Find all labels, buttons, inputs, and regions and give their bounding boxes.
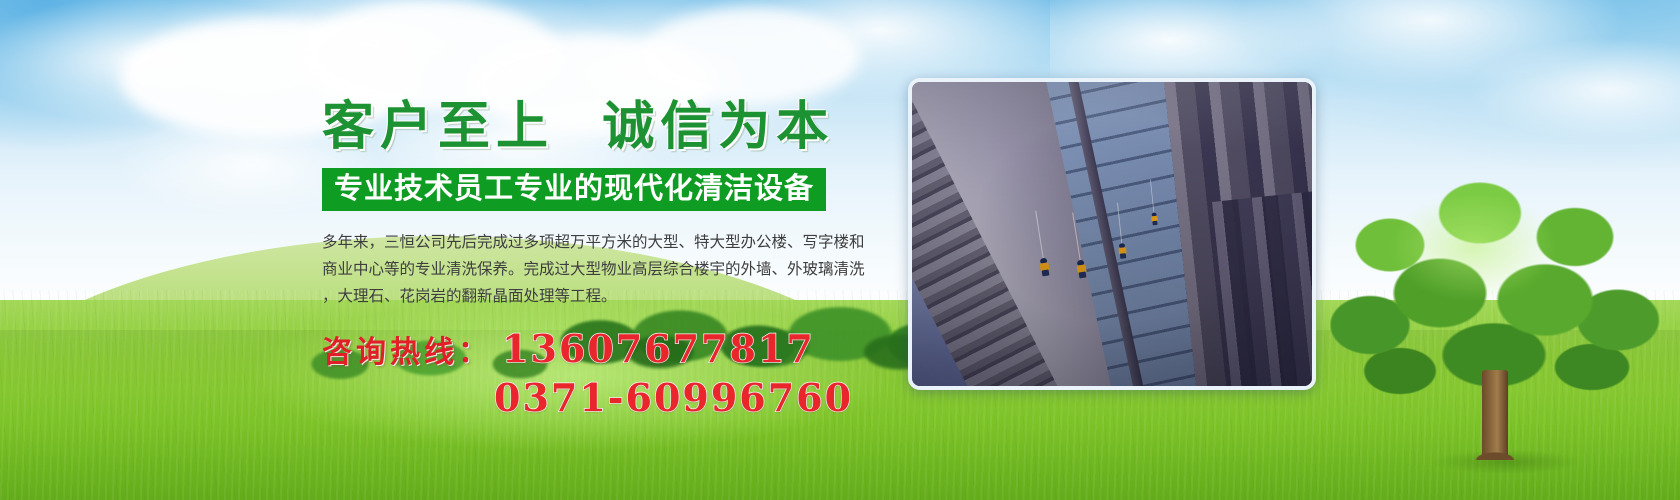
- description-line: ，大理石、花岗岩的翻新晶面处理等工程。: [322, 283, 882, 310]
- hotline-block: 咨询热线： 13607677817: [322, 326, 902, 371]
- building-photo: [912, 82, 1312, 386]
- banner-copy: 客户至上 诚信为本 专业技术员工专业的现代化清洁设备 多年来，三恒公司先后完成过…: [322, 98, 902, 420]
- description-line: 商业中心等的专业清洗保养。完成过大型物业高层综合楼宇的外墙、外玻璃清洗: [322, 256, 882, 283]
- tree-graphic: [1330, 175, 1660, 475]
- hotline-primary-number[interactable]: 13607677817: [502, 326, 815, 371]
- banner-headline: 客户至上 诚信为本: [322, 98, 902, 156]
- photo-vignette: [912, 82, 1312, 386]
- description-line: 多年来，三恒公司先后完成过多项超万平方米的大型、特大型办公楼、写字楼和: [322, 229, 882, 256]
- banner-subtitle: 专业技术员工专业的现代化清洁设备: [334, 173, 814, 203]
- tree-canopy-highlight: [1370, 195, 1600, 345]
- tree-trunk: [1482, 370, 1508, 458]
- building-photo-card: [908, 78, 1316, 390]
- hotline-label: 咨询热线：: [322, 327, 492, 371]
- cloud-puff: [640, 8, 860, 104]
- promotional-banner: 客户至上 诚信为本 专业技术员工专业的现代化清洁设备 多年来，三恒公司先后完成过…: [0, 0, 1680, 500]
- banner-subtitle-strip: 专业技术员工专业的现代化清洁设备: [322, 168, 826, 210]
- hotline-secondary-number[interactable]: 0371-60996760: [494, 375, 853, 420]
- hotline-secondary-block: 0371-60996760: [494, 375, 902, 420]
- banner-description: 多年来，三恒公司先后完成过多项超万平方米的大型、特大型办公楼、写字楼和 商业中心…: [322, 229, 882, 310]
